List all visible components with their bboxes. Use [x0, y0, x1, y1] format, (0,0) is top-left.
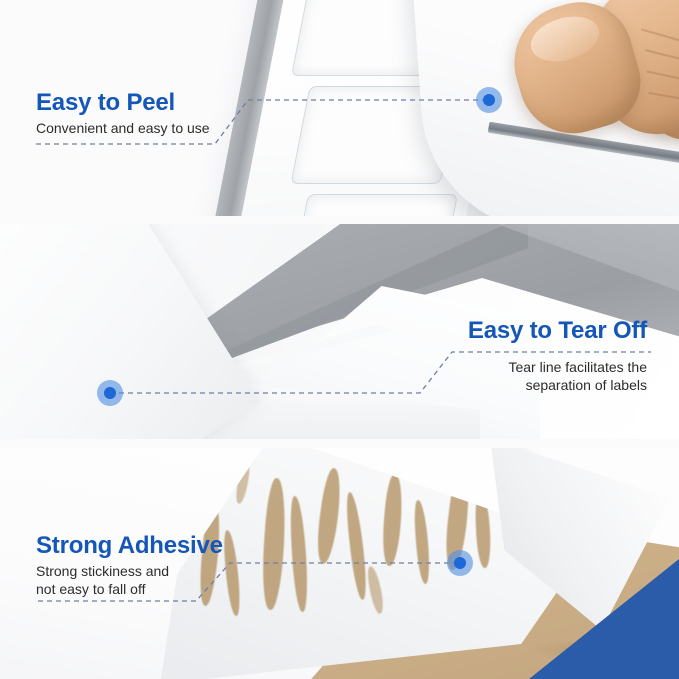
cardboard-fiber — [259, 477, 288, 610]
cardboard-fiber — [313, 467, 344, 565]
product-feature-infographic: Easy to Peel Convenient and easy to use … — [0, 0, 679, 679]
cardboard-fiber — [344, 492, 368, 601]
cardboard-fiber — [222, 530, 241, 617]
callout-subtitle-adhere: Strong stickiness and not easy to fall o… — [36, 563, 223, 599]
cardboard-fiber — [380, 473, 405, 566]
callout-subtitle-tear: Tear line facilitates the separation of … — [468, 359, 647, 395]
callout-subtitle-peel: Convenient and easy to use — [36, 120, 210, 138]
callout-easy-to-tear-off: Easy to Tear Off Tear line facilitates t… — [468, 318, 647, 395]
label-tile — [292, 194, 458, 216]
adhesive-residue-marker-icon — [447, 550, 473, 576]
callout-title-adhere: Strong Adhesive — [36, 533, 223, 558]
callout-easy-to-peel: Easy to Peel Convenient and easy to use — [36, 90, 210, 138]
peel-point-marker-icon — [476, 87, 502, 113]
callout-title-tear: Easy to Tear Off — [468, 318, 647, 343]
cardboard-fiber — [366, 565, 385, 614]
tear-line-marker-icon — [97, 380, 123, 406]
cardboard-fiber — [413, 500, 431, 585]
callout-strong-adhesive: Strong Adhesive Strong stickiness and no… — [36, 533, 223, 599]
cardboard-fiber — [289, 496, 309, 613]
callout-title-peel: Easy to Peel — [36, 90, 210, 115]
